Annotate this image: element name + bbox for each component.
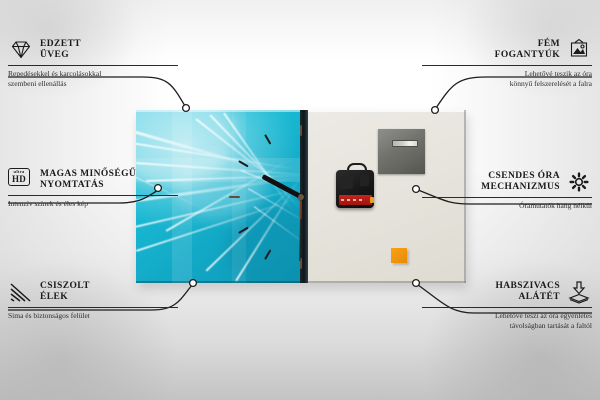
hanger-slot (392, 140, 418, 147)
diamond-icon (8, 38, 34, 62)
ultra-hd-icon: ultra HD (8, 168, 34, 192)
feature-title: CSENDES ÓRA MECHANIZMUS (481, 171, 560, 194)
feature-subtitle: Lehetővé teszi az óra egyenletes távolsá… (422, 311, 592, 331)
feature-quiet-mechanism: CSENDES ÓRA MECHANIZMUS Óramutatók hang … (422, 170, 592, 211)
feature-subtitle: Sima és biztonságos felület (8, 311, 178, 321)
clock-tick (300, 125, 302, 197)
feature-foam-pad: HABSZIVACS ALÁTÉT Lehetővé teszi az óra … (422, 280, 592, 331)
back-panel-top-highlight (308, 110, 466, 112)
infographic-canvas: EDZETT ÜVEG Repedésekkel és karcolásokka… (0, 0, 600, 400)
feature-title: MAGAS MINŐSÉGŰ NYOMTATÁS (40, 169, 136, 192)
feature-title: FÉM FOGANTYÚK (495, 39, 560, 62)
feature-title: HABSZIVACS ALÁTÉT (495, 281, 560, 304)
divider (8, 195, 178, 196)
divider (422, 65, 592, 66)
divider (8, 307, 178, 308)
gear-icon (566, 170, 592, 194)
clock-tick (229, 196, 301, 198)
mechanism-detail-right (360, 175, 369, 186)
foam-pad-sample (391, 248, 407, 263)
picture-hanger-icon (566, 38, 592, 62)
polished-edge-icon (8, 280, 34, 304)
battery (339, 195, 372, 205)
feature-subtitle: Óramutatók hang nélkül (422, 201, 592, 211)
feature-subtitle: Intenzív színek és éles kép (8, 199, 178, 209)
feature-tempered-glass: EDZETT ÜVEG Repedésekkel és karcolásokka… (8, 38, 178, 89)
feature-title: CSISZOLT ÉLEK (40, 281, 90, 304)
metal-hanger-plate (378, 129, 425, 174)
divider (422, 307, 592, 308)
feature-subtitle: Repedésekkel és karcolásokkal szembeni e… (8, 69, 178, 89)
divider (8, 65, 178, 66)
glass-top-highlight (136, 110, 304, 112)
mechanism-detail-left (340, 176, 353, 189)
feature-subtitle: Lehetővé teszik az óra könnyű felszerelé… (422, 69, 592, 89)
feature-polished-edges: CSISZOLT ÉLEK Sima és biztonságos felüle… (8, 280, 178, 321)
back-panel-left-edge (304, 110, 308, 283)
divider (422, 197, 592, 198)
feature-metal-handles: FÉM FOGANTYÚK Lehetővé teszik az óra kön… (422, 38, 592, 89)
product-image (136, 110, 466, 283)
feature-high-quality-print: ultra HD MAGAS MINŐSÉGŰ NYOMTATÁS Intenz… (8, 168, 178, 209)
foam-pad-icon (566, 280, 592, 304)
feature-title: EDZETT ÜVEG (40, 39, 81, 62)
